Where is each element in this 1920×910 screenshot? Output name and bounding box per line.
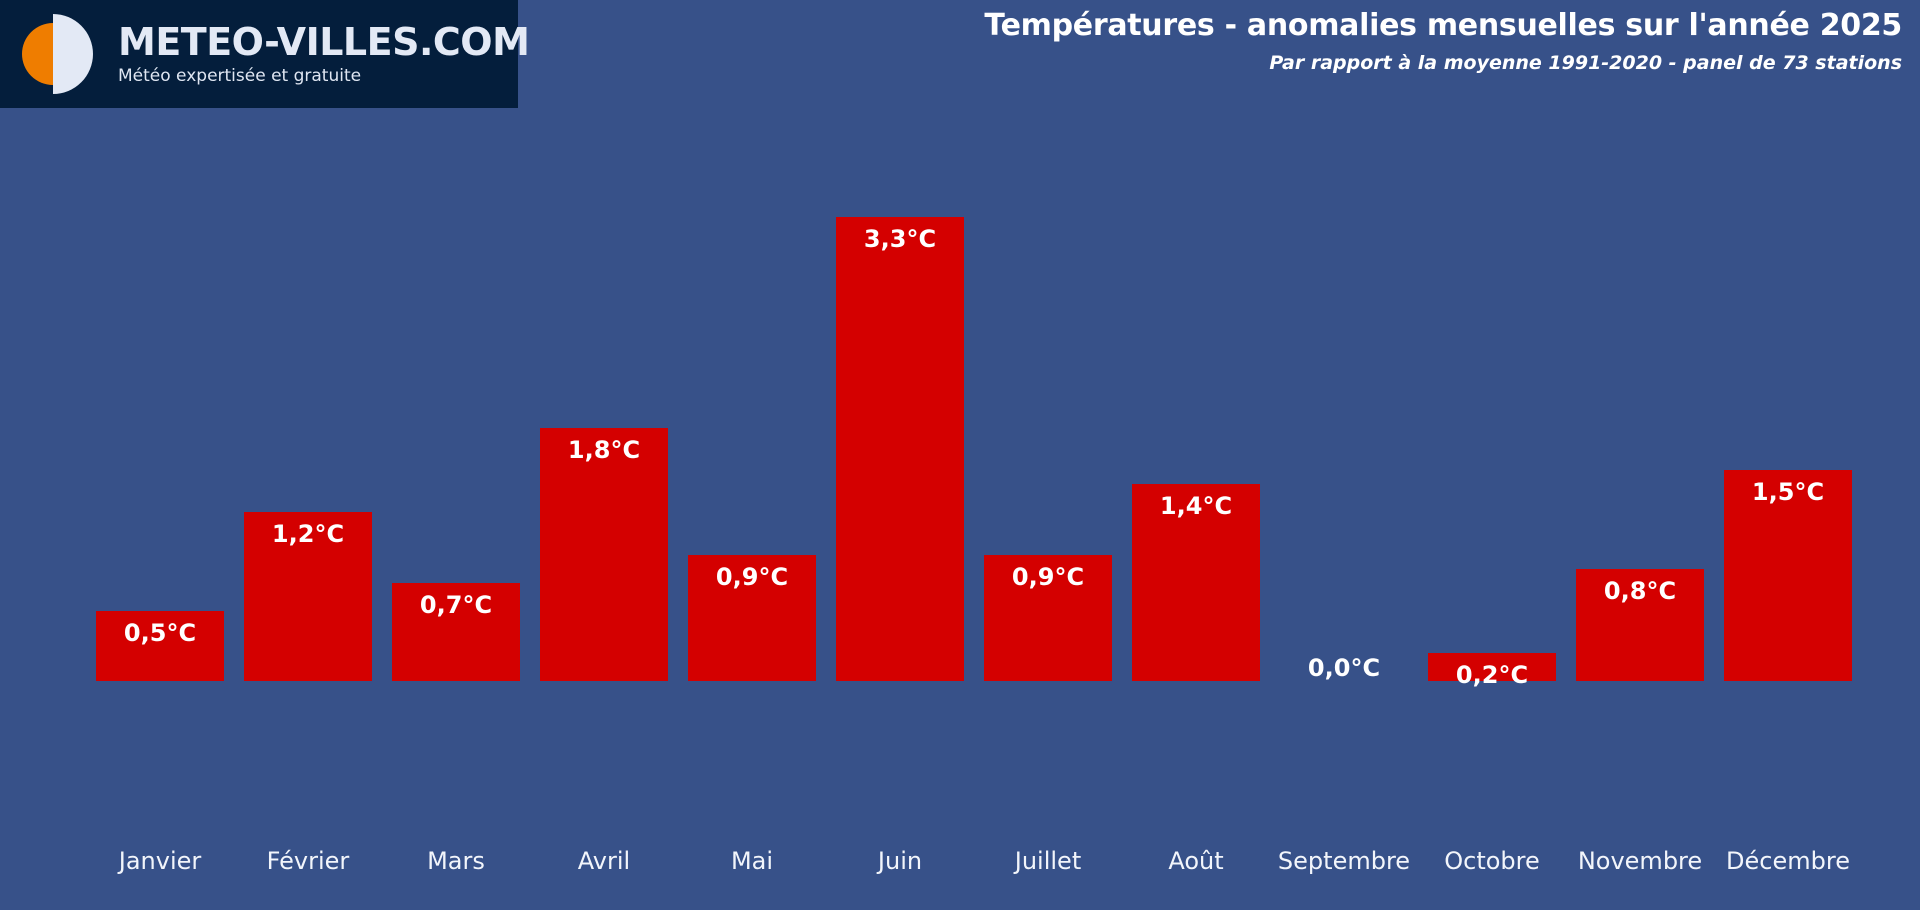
chart-subtitle: Par rapport à la moyenne 1991-2020 - pan… bbox=[984, 52, 1902, 74]
bar-slot[interactable]: 0,0°C bbox=[1270, 121, 1418, 681]
bar-value-label: 1,5°C bbox=[1714, 478, 1862, 506]
bar-value-label: 0,2°C bbox=[1418, 661, 1566, 689]
x-axis-month-label: Juin bbox=[826, 847, 974, 875]
bar-value-label: 3,3°C bbox=[826, 225, 974, 253]
x-axis-month-label: Juillet bbox=[974, 847, 1122, 875]
x-axis-month-label: Novembre bbox=[1566, 847, 1714, 875]
bar-value-label: 0,7°C bbox=[382, 591, 530, 619]
page-header: METEO-VILLES.COM Météo expertisée et gra… bbox=[0, 0, 1920, 110]
bar-value-label: 0,0°C bbox=[1270, 654, 1418, 682]
bar-value-label: 1,2°C bbox=[234, 520, 382, 548]
logo-orange-half-icon bbox=[22, 23, 53, 85]
bar-slot[interactable]: 3,3°C bbox=[826, 121, 974, 681]
title-block: Températures - anomalies mensuelles sur … bbox=[984, 8, 1902, 74]
bar-value-label: 1,4°C bbox=[1122, 492, 1270, 520]
bar-slot[interactable]: 1,4°C bbox=[1122, 121, 1270, 681]
bar-slot[interactable]: 0,9°C bbox=[678, 121, 826, 681]
bar-value-label: 0,8°C bbox=[1566, 577, 1714, 605]
x-axis-month-label: Mars bbox=[382, 847, 530, 875]
logo-text-block: METEO-VILLES.COM Météo expertisée et gra… bbox=[118, 23, 529, 85]
x-axis-month-label: Février bbox=[234, 847, 382, 875]
logo-site-name: METEO-VILLES.COM bbox=[118, 23, 529, 61]
bar-value-label: 0,9°C bbox=[974, 563, 1122, 591]
bar-value-label: 0,9°C bbox=[678, 563, 826, 591]
bar-value-label: 0,5°C bbox=[86, 619, 234, 647]
brand-logo-banner[interactable]: METEO-VILLES.COM Météo expertisée et gra… bbox=[0, 0, 518, 108]
x-axis-month-label: Août bbox=[1122, 847, 1270, 875]
x-axis-month-label: Janvier bbox=[86, 847, 234, 875]
bar-slot[interactable]: 0,7°C bbox=[382, 121, 530, 681]
x-axis-month-label: Octobre bbox=[1418, 847, 1566, 875]
x-axis-month-label: Avril bbox=[530, 847, 678, 875]
bar-slot[interactable]: 0,8°C bbox=[1566, 121, 1714, 681]
x-axis-month-label: Mai bbox=[678, 847, 826, 875]
bar[interactable] bbox=[836, 217, 964, 681]
bar-slot[interactable]: 1,5°C bbox=[1714, 121, 1862, 681]
logo-tagline: Météo expertisée et gratuite bbox=[118, 68, 529, 85]
chart-title: Températures - anomalies mensuelles sur … bbox=[984, 8, 1902, 43]
bar-slot[interactable]: 0,2°C bbox=[1418, 121, 1566, 681]
x-axis-month-label: Septembre bbox=[1270, 847, 1418, 875]
bar-value-label: 1,8°C bbox=[530, 436, 678, 464]
x-axis-month-label: Décembre bbox=[1714, 847, 1862, 875]
bar-slot[interactable]: 0,5°C bbox=[86, 121, 234, 681]
bar[interactable] bbox=[540, 428, 668, 681]
bar-chart-plot-area: 0,5°CJanvier1,2°CFévrier0,7°CMars1,8°CAv… bbox=[0, 110, 1920, 910]
bar-slot[interactable]: 1,8°C bbox=[530, 121, 678, 681]
bar-slot[interactable]: 0,9°C bbox=[974, 121, 1122, 681]
logo-light-half-icon bbox=[53, 14, 93, 94]
bar-slot[interactable]: 1,2°C bbox=[234, 121, 382, 681]
split-circle-logo-icon bbox=[8, 6, 104, 102]
